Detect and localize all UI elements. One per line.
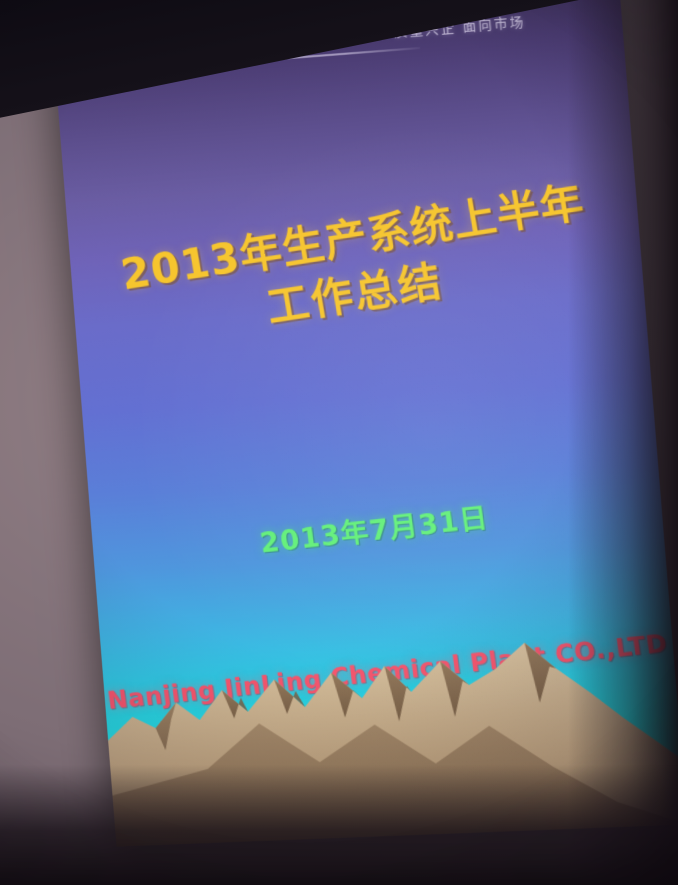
- slide-header: NJ 金陵化工 以人为本 科技兴厂 质量兴企 面向市场: [80, 0, 607, 83]
- logo-abbr-text: NJ: [81, 42, 99, 62]
- projected-slide: NJ 金陵化工 以人为本 科技兴厂 质量兴企 面向市场 2013年生产系统上半年…: [50, 0, 678, 847]
- logo-mark-icon: NJ: [81, 36, 128, 70]
- mountain-range-silhouette-icon: [100, 615, 678, 847]
- presentation-date: 2013年7月31日: [92, 475, 663, 580]
- logo-company-name: 金陵化工: [129, 27, 225, 67]
- company-slogan: 以人为本 科技兴厂 质量兴企 面向市场: [257, 10, 526, 50]
- slide-title-block: 2013年生产系统上半年 工作总结: [68, 194, 645, 338]
- slide-canvas: NJ 金陵化工 以人为本 科技兴厂 质量兴企 面向市场 2013年生产系统上半年…: [50, 0, 678, 847]
- photograph-of-projection-screen: NJ 金陵化工 以人为本 科技兴厂 质量兴企 面向市场 2013年生产系统上半年…: [0, 0, 678, 885]
- logo-swirl-icon: [99, 38, 124, 63]
- header-divider: [238, 25, 243, 60]
